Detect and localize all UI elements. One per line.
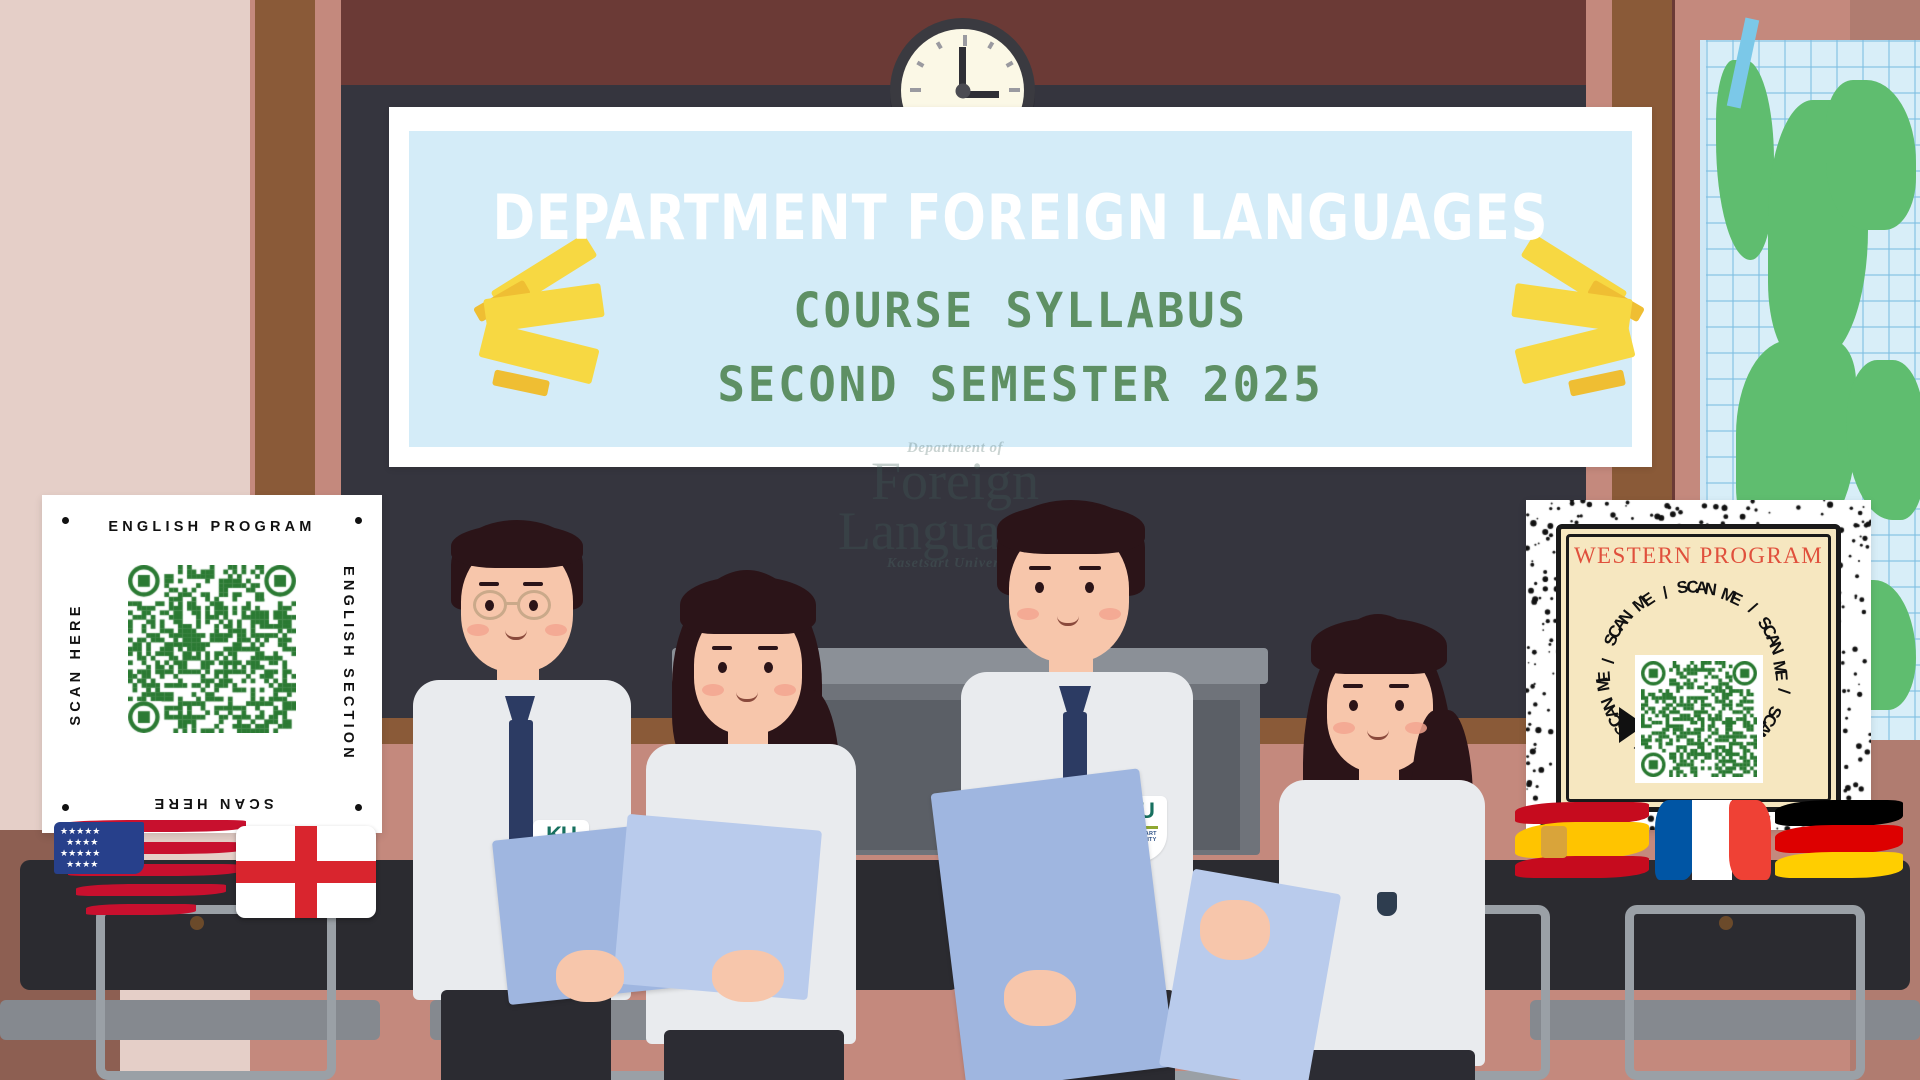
flag-usa: ★★★★★ ★★★★ ★★★★★ ★★★★ [46,816,246,924]
chair-5 [1625,905,1865,1080]
banner-subtitle-line2: SECOND SEMESTER 2025 [440,357,1602,413]
western-program-qr-card[interactable]: WESTERN PROGRAM SCANME/SCANME/SCANME/SCA… [1526,500,1871,830]
scan-ring-char: / [1744,599,1760,618]
scan-ring-char: / [1773,687,1793,694]
scan-ring-char: E [1771,669,1792,682]
hand-2 [712,950,784,1002]
clock-center-pin [955,83,970,98]
hand-4 [1200,900,1270,960]
flag-england [236,826,376,918]
card-left-top-label: ENGLISH PROGRAM [42,519,382,535]
scan-ring-char: N [1703,579,1718,601]
banner-subtitle-line1: COURSE SYLLABUS [440,283,1602,339]
flag-spain-crest [1541,826,1567,858]
card-left-left-label: SCAN HERE [68,554,84,774]
flag-england-horizontal-bar [236,861,376,883]
card-left-dot-tl [62,517,69,524]
card-right-title: WESTERN PROGRAM [1561,543,1836,569]
folder-right [931,768,1176,1080]
flag-germany [1775,800,1903,880]
english-program-qr-card[interactable]: ENGLISH PROGRAM ENGLISH SECTION SCAN HER… [42,495,382,833]
flag-spain [1515,800,1649,880]
shirt-badge-4 [1377,892,1397,916]
card-left-bottom-label: SCAN HERE [42,795,382,811]
flag-france [1655,800,1771,880]
scan-ring-char: / [1599,658,1619,665]
title-banner: DEPARTMENT FOREIGN LANGUAGES COURSE SYLL… [389,107,1652,467]
card-left-right-label: ENGLISH SECTION [340,554,356,774]
chair-knob-5 [1719,916,1733,930]
scan-ring-char: E [1594,670,1615,683]
card-left-dot-bl [62,804,69,811]
scan-ring-char: / [1659,583,1671,603]
card-left-dot-tr [355,517,362,524]
poster-canvas: DEPARTMENT FOREIGN LANGUAGES COURSE SYLL… [0,0,1920,1080]
chair-1 [96,905,336,1080]
page-title: DEPARTMENT FOREIGN LANGUAGES [458,181,1583,254]
english-program-qr-code[interactable] [128,565,296,733]
card-right-panel: WESTERN PROGRAM SCANME/SCANME/SCANME/SCA… [1556,524,1841,812]
banner-inner-panel: DEPARTMENT FOREIGN LANGUAGES COURSE SYLL… [409,131,1632,447]
hand-3 [1004,970,1076,1026]
hand-1 [556,950,624,1002]
western-program-qr-code[interactable] [1635,655,1763,783]
card-left-dot-br [355,804,362,811]
flag-usa-canton: ★★★★★ ★★★★ ★★★★★ ★★★★ [54,822,144,874]
